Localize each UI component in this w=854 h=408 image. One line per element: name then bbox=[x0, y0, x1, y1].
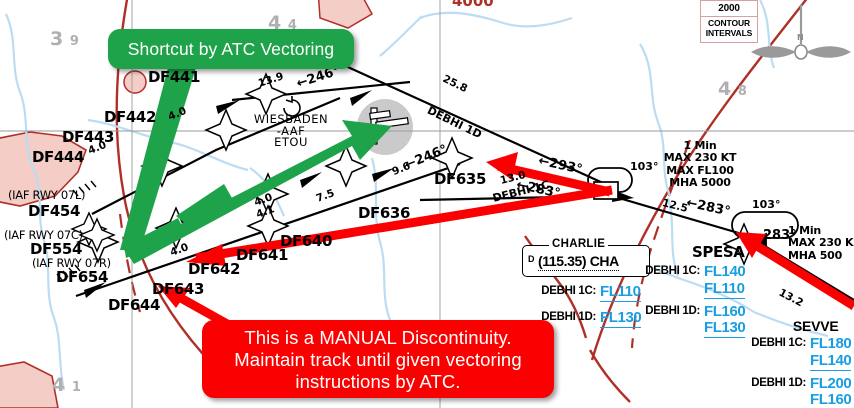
holding-speed-1: MAX 230 KT bbox=[648, 152, 752, 164]
grid-label-48: 4 8 bbox=[718, 78, 747, 100]
restriction-values: FL110 bbox=[600, 284, 641, 302]
waypoint-label-df635: DF635 bbox=[434, 170, 486, 188]
flight-level: FL140 bbox=[810, 353, 851, 371]
navaid-dme-marker: D bbox=[528, 254, 535, 264]
flight-level: FL200 bbox=[810, 376, 851, 393]
callout-shortcut-atc-vectoring: Shortcut by ATC Vectoring bbox=[108, 29, 354, 69]
waypoint-label-df444: DF444 bbox=[32, 148, 84, 166]
grid-label-39: 3 9 bbox=[50, 28, 79, 50]
holding-mha-2: MHA 500 bbox=[788, 250, 854, 262]
restriction-row: DEBHI 1C: FL180 FL140 bbox=[744, 336, 851, 371]
contour-legend-title: CONTOUR INTERVALS bbox=[701, 17, 757, 42]
contour-intervals-legend: 4000 2000 CONTOUR INTERVALS bbox=[700, 0, 758, 43]
holding-mha-1: MHA 5000 bbox=[648, 177, 752, 189]
waypoint-label-df640: DF640 bbox=[280, 232, 332, 250]
restriction-key: DEBHI 1D: bbox=[744, 376, 806, 389]
restrictions-spesa: DEBHI 1C: FL140 FL110 DEBHI 1D: FL160 FL… bbox=[638, 262, 745, 338]
navaid-frequency-ident: (115.35) CHA bbox=[538, 253, 619, 271]
navaid-box-charlie: CHARLIE D (115.35) CHA bbox=[522, 245, 650, 277]
airport-icao: ETOU bbox=[252, 137, 330, 149]
holding-info-sevve: 1 Min MAX 230 K MHA 500 bbox=[788, 225, 854, 262]
flight-level: FL130 bbox=[704, 320, 745, 338]
waypoint-label-df443: DF443 bbox=[62, 128, 114, 146]
restriction-row: DEBHI 1D: FL160 FL130 bbox=[638, 304, 745, 339]
waypoint-label-spesa: SPESA bbox=[692, 243, 744, 261]
restriction-key: DEBHI 1D: bbox=[638, 304, 700, 317]
flight-level: FL180 bbox=[810, 336, 851, 353]
restriction-values: FL200 FL160 bbox=[810, 376, 851, 408]
restriction-values: FL160 FL130 bbox=[704, 304, 745, 339]
restriction-values: FL130 bbox=[600, 310, 641, 328]
restriction-row: DEBHI 1C: FL140 FL110 bbox=[638, 264, 745, 299]
contour-title-line2: INTERVALS bbox=[701, 29, 757, 39]
waypoint-label-df654: DF654 bbox=[56, 268, 108, 286]
holding-speed-2: MAX 230 K bbox=[788, 237, 854, 249]
holding-info-spesa: 1 Min MAX 230 KT MAX FL100 MHA 5000 bbox=[648, 140, 752, 189]
flight-level: FL140 bbox=[704, 264, 745, 281]
restriction-key: DEBHI 1C: bbox=[744, 336, 806, 349]
callout-red-line-1: This is a MANUAL Discontinuity. bbox=[212, 327, 544, 349]
restriction-key: DEBHI 1C: bbox=[528, 284, 596, 297]
compass-north-label: N bbox=[797, 33, 804, 42]
callout-red-line-3: instructions by ATC. bbox=[212, 371, 544, 393]
contour-level-2000: 2000 bbox=[701, 1, 757, 17]
flight-level: FL130 bbox=[600, 310, 641, 328]
navaid-ident: CHA bbox=[590, 253, 619, 269]
compass-rose-icon bbox=[752, 4, 850, 59]
waypoint-label-df643: DF643 bbox=[152, 280, 204, 298]
flight-level: FL160 bbox=[704, 304, 745, 321]
waypoint-label-sevve: SEVVE bbox=[780, 318, 851, 334]
waypoint-label-df442: DF442 bbox=[104, 108, 156, 126]
restrictions-sevve: SEVVE DEBHI 1C: FL180 FL140 DEBHI 1D: FL… bbox=[744, 318, 851, 408]
navaid-name: CHARLIE bbox=[549, 238, 608, 250]
flight-level: FL110 bbox=[704, 281, 745, 299]
restriction-row: DEBHI 1D: FL200 FL160 bbox=[744, 376, 851, 408]
flight-level: FL160 bbox=[810, 392, 851, 408]
restriction-values: FL140 FL110 bbox=[704, 264, 745, 299]
bearing-label-103-b: 103° bbox=[752, 198, 780, 211]
flight-level: FL110 bbox=[600, 284, 641, 302]
waypoint-label-df636: DF636 bbox=[358, 204, 410, 222]
restriction-key: DEBHI 1C: bbox=[638, 264, 700, 277]
restriction-values: FL180 FL140 bbox=[810, 336, 851, 371]
waypoint-label-df454: DF454 bbox=[28, 202, 80, 220]
grid-label-41: 4 1 bbox=[52, 374, 81, 396]
waypoint-label-df642: DF642 bbox=[188, 260, 240, 278]
navaid-frequency: (115.35) bbox=[538, 253, 586, 269]
callout-red-line-2: Maintain track until given vectoring bbox=[212, 349, 544, 371]
iaf-label-df454: (IAF RWY 07L) bbox=[8, 188, 85, 202]
waypoint-label-df644: DF644 bbox=[108, 296, 160, 314]
airport-label-wiesbaden: WIESBADEN -AAF ETOU bbox=[252, 114, 330, 149]
elevation-label-top: 4000 bbox=[452, 0, 494, 10]
callout-manual-discontinuity: This is a MANUAL Discontinuity. Maintain… bbox=[202, 320, 554, 398]
restriction-row: DEBHI 1C: FL110 bbox=[528, 284, 641, 302]
waypoint-label-df441: DF441 bbox=[148, 68, 200, 86]
chart-screenshot: 4000 3 9 4 4 4 8 4 1 WIESBADEN -AAF ETOU… bbox=[0, 0, 854, 408]
